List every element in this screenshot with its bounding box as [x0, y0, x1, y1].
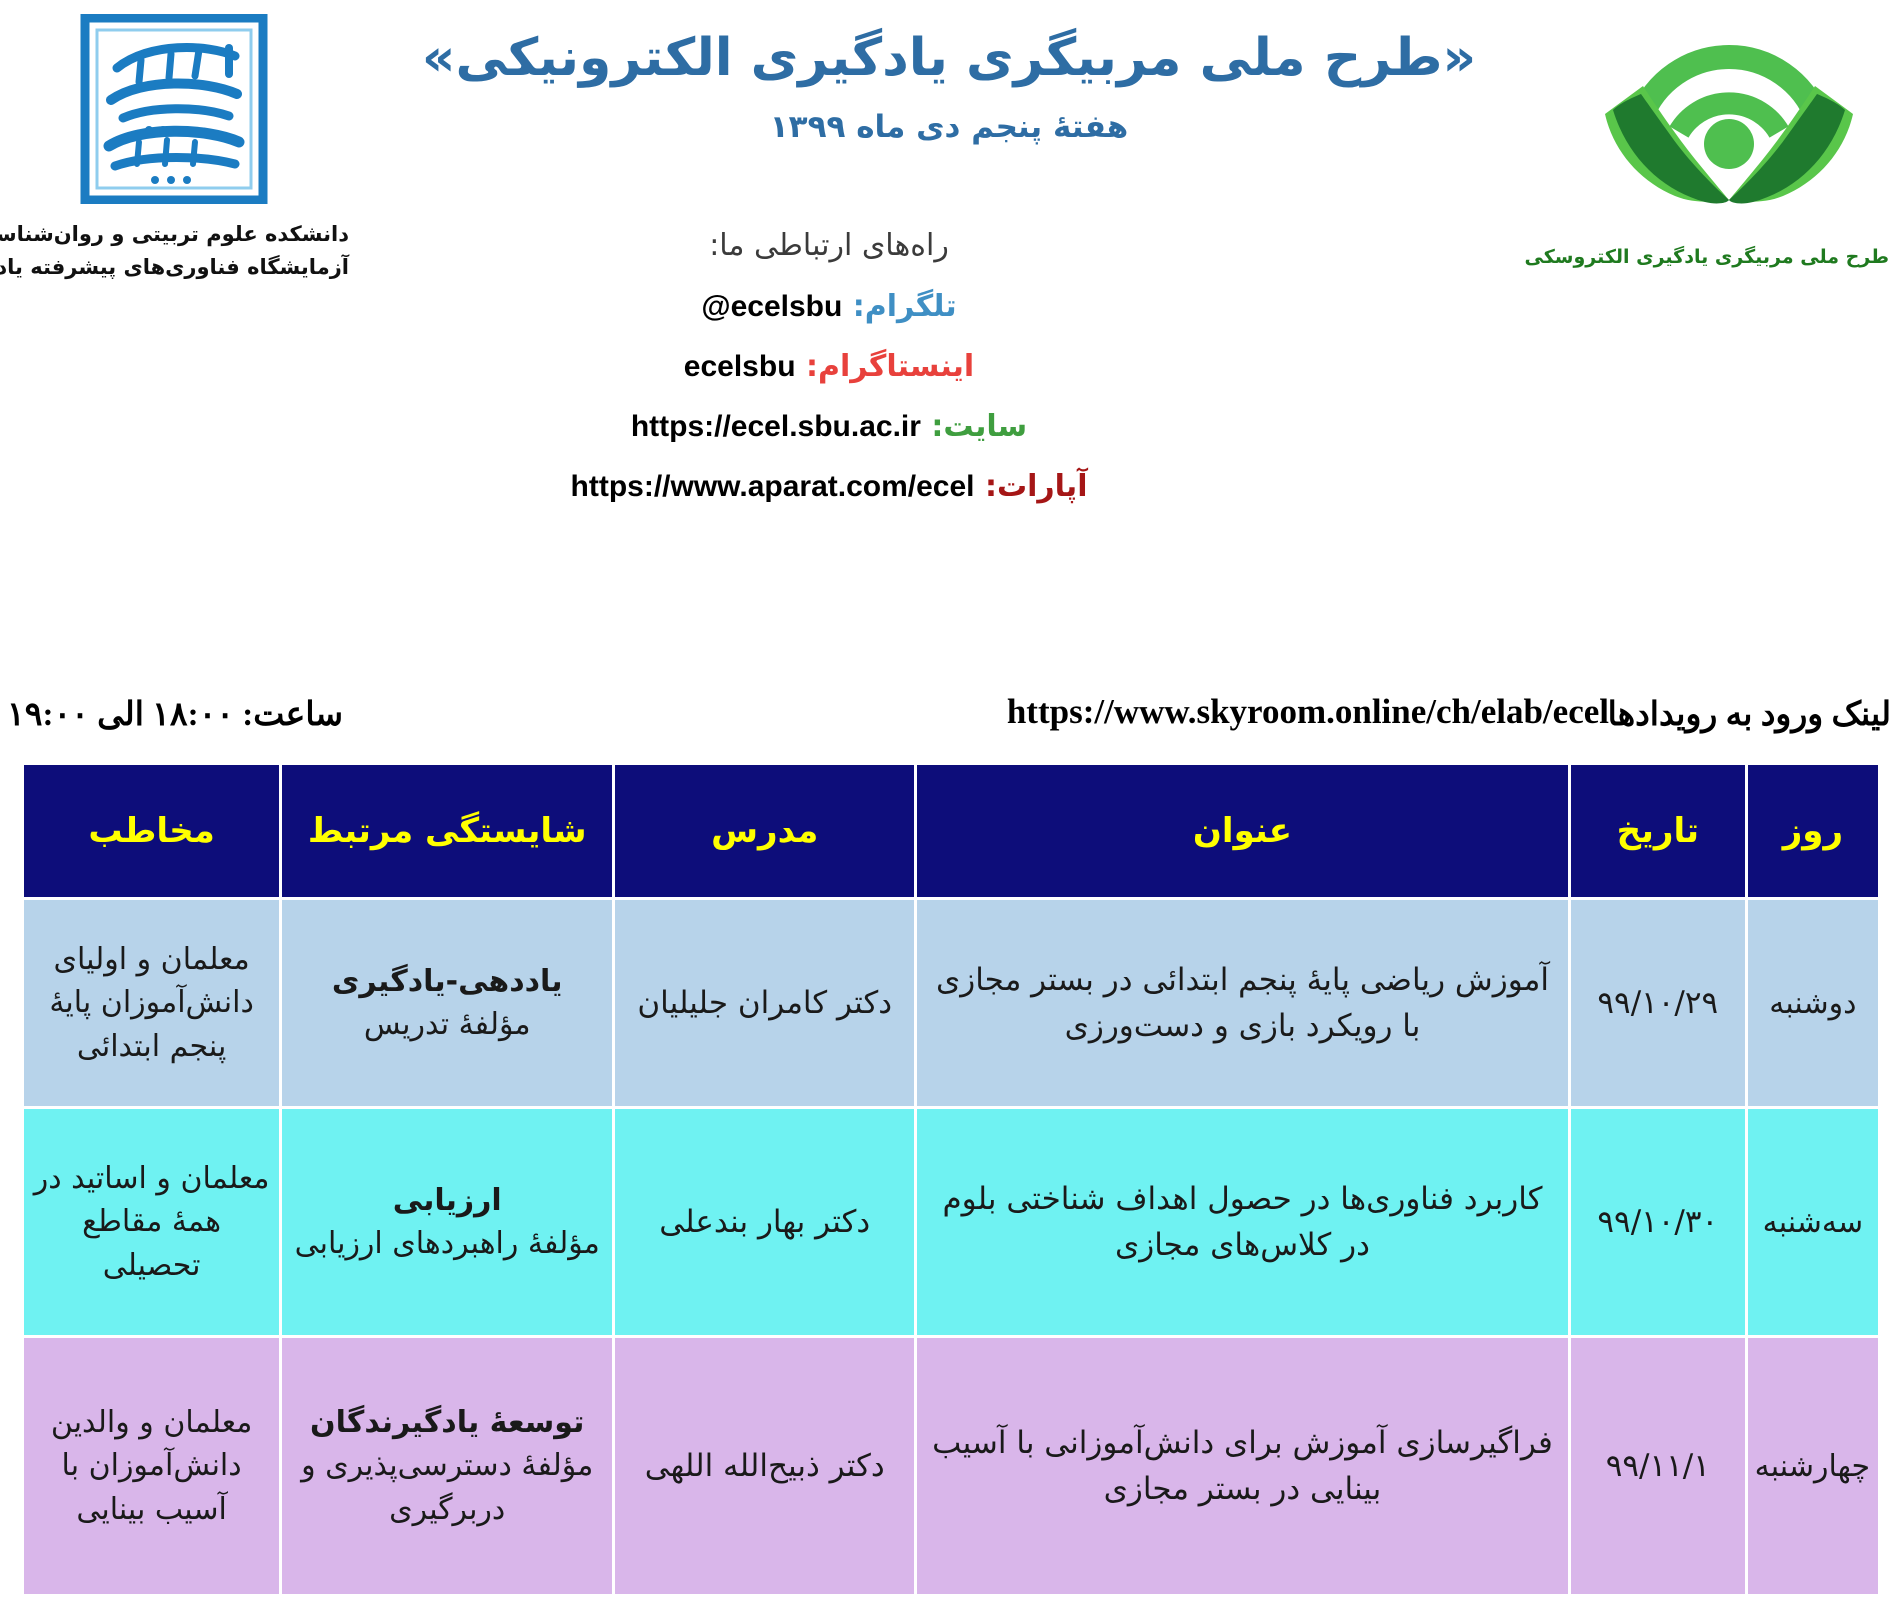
sbu-caption: دانشکده علوم تربیتی و روان‌شناسی آزمایشگ…	[0, 218, 350, 283]
contact-sep-aparat: :	[976, 469, 998, 504]
cell-audience: معلمان و والدین دانش‌آموزان با آسیب بینا…	[24, 1337, 282, 1596]
column-header-competency: شایستگی مرتبط	[282, 764, 615, 899]
contact-label-instagram: اینستاگرام	[819, 349, 975, 384]
entry-link-label: لینک ورود به رویدادها	[1609, 694, 1892, 734]
schedule-table-wrap: روز تاریخ عنوان مدرس شایستگی مرتبط مخاطب…	[22, 762, 1882, 1597]
ecel-caption: طرح ملی مربیگری یادگیری الکتروسکی	[1570, 246, 1890, 268]
column-header-date: تاریخ	[1570, 764, 1747, 899]
title-block: «طرح ملی مربیگری یادگیری الکترونیکی» هفت…	[380, 26, 1520, 145]
sbu-lab-name: آزمایشگاه فناوری‌های پیشرفته یادگیری	[0, 251, 350, 284]
cell-date: ۹۹/۱۰/۲۹	[1570, 899, 1747, 1108]
contact-label-website: سایت	[944, 409, 1028, 444]
cell-date: ۹۹/۱۱/۱	[1570, 1337, 1747, 1596]
cell-day: دوشنبه	[1747, 899, 1880, 1108]
cell-title: آموزش ریاضی پایۀ پنجم ابتدائی در بستر مج…	[917, 899, 1571, 1108]
contact-lead-text: راه‌های ارتباطی ما:	[330, 228, 1330, 263]
contact-value-telegram[interactable]: @ecelsbu	[702, 290, 843, 324]
contact-value-aparat[interactable]: https://www.aparat.com/ecel	[572, 470, 976, 504]
sbu-branding-block: دانشکده علوم تربیتی و روان‌شناسی آزمایشگ…	[0, 14, 350, 283]
cell-audience: معلمان و اساتید در همۀ مقاطع تحصیلی	[24, 1108, 282, 1337]
ecel-branding-block: طرح ملی مربیگری یادگیری الکتروسکی	[1570, 10, 1890, 268]
cell-competency: یاددهی-یادگیری مؤلفۀ تدریس	[282, 899, 615, 1108]
contact-row-telegram: تلگرام: @ecelsbu	[330, 289, 1330, 324]
contact-sep-instagram: :	[797, 349, 819, 384]
table-row: دوشنبه ۹۹/۱۰/۲۹ آموزش ریاضی پایۀ پنجم اب…	[24, 899, 1881, 1108]
table-row: چهارشنبه ۹۹/۱۱/۱ فراگیرسازی آموزش برای د…	[24, 1337, 1881, 1596]
competency-main: ارزیابی	[291, 1179, 605, 1223]
page-title: «طرح ملی مربیگری یادگیری الکترونیکی»	[380, 26, 1520, 91]
schedule-table-head: روز تاریخ عنوان مدرس شایستگی مرتبط مخاطب	[24, 764, 1881, 899]
competency-main: یاددهی-یادگیری	[291, 960, 605, 1004]
contact-value-instagram[interactable]: ecelsbu	[685, 350, 797, 384]
contact-block: راه‌های ارتباطی ما: تلگرام: @ecelsbu این…	[330, 228, 1330, 529]
cell-competency: توسعۀ یادگیرندگان مؤلفۀ دسترسی‌پذیری و د…	[282, 1337, 615, 1596]
table-row: سه‌شنبه ۹۹/۱۰/۳۰ کاربرد فناوری‌ها در حصو…	[24, 1108, 1881, 1337]
page-subtitle: هفتۀ پنجم دی ماه ۱۳۹۹	[380, 109, 1520, 145]
cell-day: سه‌شنبه	[1747, 1108, 1880, 1337]
cell-competency: ارزیابی مؤلفۀ راهبردهای ارزیابی	[282, 1108, 615, 1337]
competency-main: توسعۀ یادگیرندگان	[291, 1401, 605, 1445]
cell-teacher: دکتر بهار بندعلی	[615, 1108, 917, 1337]
ecel-hands-wifi-logo-icon	[1580, 10, 1880, 242]
cell-teacher: دکتر ذبیح‌الله اللهی	[615, 1337, 917, 1596]
cell-date: ۹۹/۱۰/۳۰	[1570, 1108, 1747, 1337]
contact-label-aparat: آپارات	[998, 469, 1089, 504]
contact-label-telegram: تلگرام	[866, 289, 958, 324]
contact-row-instagram: اینستاگرام: ecelsbu	[330, 349, 1330, 384]
schedule-table-body: دوشنبه ۹۹/۱۰/۲۹ آموزش ریاضی پایۀ پنجم اب…	[24, 899, 1881, 1596]
sbu-university-seal-icon	[80, 14, 270, 204]
cell-title: فراگیرسازی آموزش برای دانش‌آموزانی با آس…	[917, 1337, 1571, 1596]
contact-row-website: سایت: https://ecel.sbu.ac.ir	[330, 409, 1330, 444]
competency-sub: مؤلفۀ دسترسی‌پذیری و دربرگیری	[291, 1444, 605, 1531]
contact-value-website[interactable]: https://ecel.sbu.ac.ir	[632, 410, 922, 444]
sbu-faculty-name: دانشکده علوم تربیتی و روان‌شناسی	[0, 218, 350, 251]
column-header-day: روز	[1747, 764, 1880, 899]
event-link-bar: لینک ورود به رویدادها https://www.skyroo…	[0, 690, 1900, 752]
competency-sub: مؤلفۀ راهبردهای ارزیابی	[291, 1222, 605, 1266]
contact-sep-website: :	[922, 409, 944, 444]
column-header-title: عنوان	[917, 764, 1571, 899]
poster-header: دانشکده علوم تربیتی و روان‌شناسی آزمایشگ…	[0, 0, 1900, 640]
column-header-teacher: مدرس	[615, 764, 917, 899]
schedule-table: روز تاریخ عنوان مدرس شایستگی مرتبط مخاطب…	[22, 762, 1882, 1597]
cell-audience: معلمان و اولیای دانش‌آموزان پایۀ پنجم اب…	[24, 899, 282, 1108]
competency-sub: مؤلفۀ تدریس	[291, 1003, 605, 1047]
cell-day: چهارشنبه	[1747, 1337, 1880, 1596]
table-header-row: روز تاریخ عنوان مدرس شایستگی مرتبط مخاطب	[24, 764, 1881, 899]
contact-row-aparat: آپارات: https://www.aparat.com/ecel	[330, 469, 1330, 504]
column-header-audience: مخاطب	[24, 764, 282, 899]
entry-link-url[interactable]: https://www.skyroom.online/ch/elab/ecel	[1008, 692, 1610, 732]
cell-title: کاربرد فناوری‌ها در حصول اهداف شناختی بل…	[917, 1108, 1571, 1337]
cell-teacher: دکتر کامران جلیلیان	[615, 899, 917, 1108]
contact-sep-telegram: :	[843, 289, 865, 324]
session-time-label: ساعت: ۱۸:۰۰ الی ۱۹:۰۰	[8, 694, 344, 734]
